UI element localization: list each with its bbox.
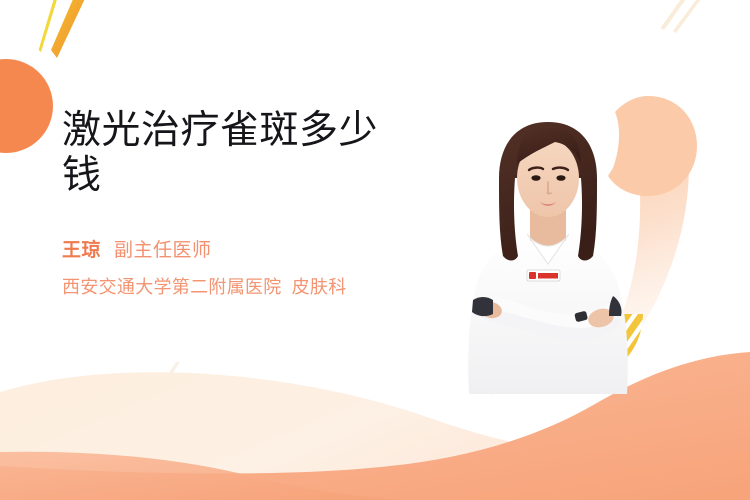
- faint-diagonal-stripe-2: [154, 362, 180, 397]
- diagonal-stripes-top-right: [661, 0, 707, 33]
- doctor-info-card: 激光治疗雀斑多少钱 王琼副主任医师 西安交通大学第二附属医院皮肤科: [0, 0, 750, 500]
- doctor-department: 皮肤科: [292, 277, 347, 297]
- doctor-primary-line: 王琼副主任医师: [62, 236, 414, 266]
- hospital-badge: [527, 270, 560, 281]
- cuff-left: [472, 297, 493, 316]
- doctor-secondary-line: 西安交通大学第二附属医院皮肤科: [62, 274, 414, 300]
- diagonal-stripes-top-left: [39, 0, 89, 58]
- eye-left: [531, 175, 540, 181]
- page-title: 激光治疗雀斑多少钱: [62, 108, 414, 198]
- doctor-info: 王琼副主任医师 西安交通大学第二附属医院皮肤科: [62, 236, 414, 300]
- doctor-title: 副主任医师: [114, 240, 212, 261]
- doctor-portrait: [455, 112, 640, 402]
- wave-inner-lobe-decoration: [0, 452, 400, 500]
- orange-circle-decoration: [0, 59, 53, 153]
- eye-right: [556, 175, 565, 181]
- doctor-name: 王琼: [62, 240, 101, 261]
- doctor-hospital: 西安交通大学第二附属医院: [62, 277, 282, 297]
- text-block: 激光治疗雀斑多少钱 王琼副主任医师 西安交通大学第二附属医院皮肤科: [62, 108, 414, 300]
